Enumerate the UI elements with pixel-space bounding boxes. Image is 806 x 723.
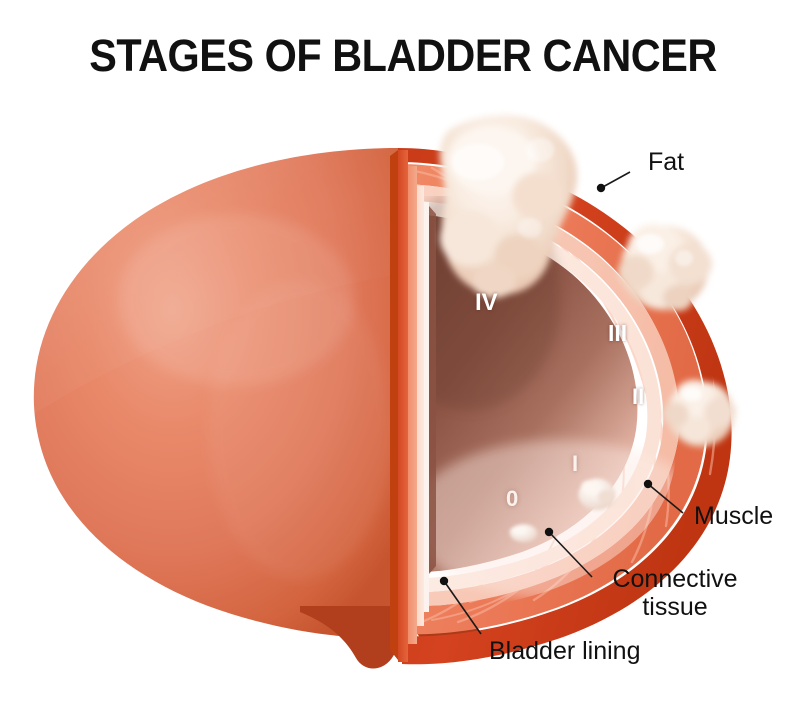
stage-marker-ii: II [632,384,644,410]
callout-label-bladder-lining: Bladder lining [489,637,641,665]
callout-label-connective-line1: Connective [612,565,737,593]
stage-marker-iii: III [608,320,627,347]
callout-label-muscle: Muscle [694,502,773,530]
leader-dot-fat [597,184,605,192]
stage-marker-0: 0 [506,486,518,512]
leader-line-fat [601,172,630,188]
diagram-canvas: STAGES OF BLADDER CANCER [0,0,806,723]
leader-dot-muscle [644,480,652,488]
leader-dot-bladder-lining [440,577,448,585]
callout-label-connective-tissue: Connective tissue [600,565,750,621]
stage-marker-i: I [572,451,578,477]
callout-label-connective-line2: tissue [642,593,707,621]
leader-dot-connective-tissue [545,528,553,536]
bladder-outer-body [33,148,398,638]
stage-marker-iv: IV [475,289,498,317]
callout-label-fat: Fat [648,148,684,176]
